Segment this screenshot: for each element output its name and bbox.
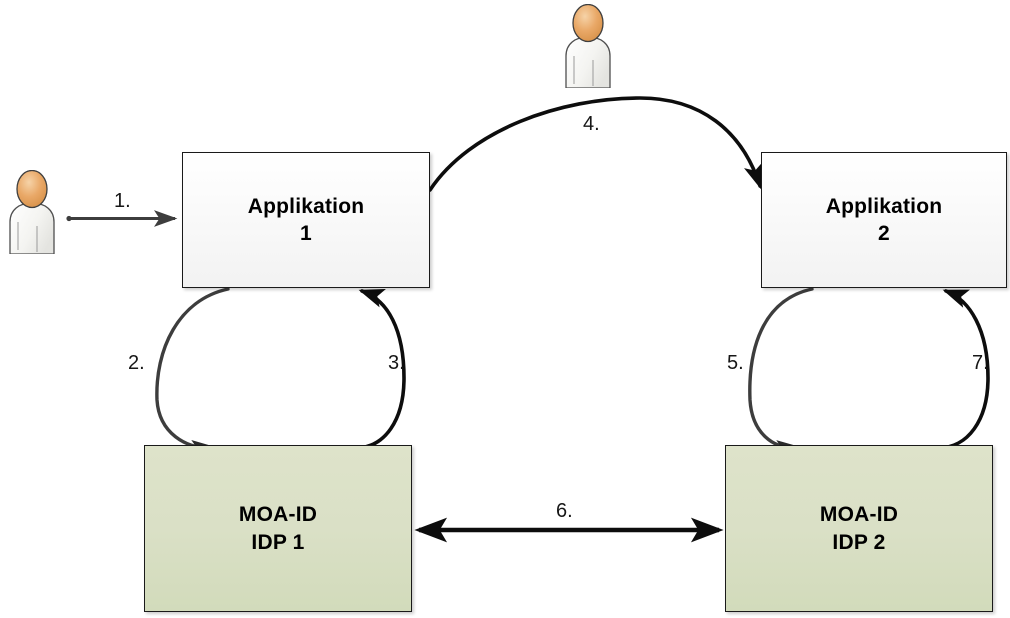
- node-moa-id-idp-1[interactable]: MOA-ID IDP 1: [144, 445, 412, 612]
- person-icon: [4, 170, 60, 254]
- node-application-2-line2: 2: [878, 220, 890, 247]
- connector-4-app1-to-app2: [430, 98, 760, 190]
- node-moa-id-idp-2-line1: MOA-ID: [820, 501, 898, 528]
- step-label-1: 1.: [114, 190, 131, 213]
- step-label-3: 3.: [388, 352, 405, 375]
- step-label-6: 6.: [556, 500, 573, 523]
- connector-2-app1-to-idp1: [157, 289, 228, 448]
- node-moa-id-idp-2[interactable]: MOA-ID IDP 2: [725, 445, 993, 612]
- node-moa-id-idp-1-line2: IDP 1: [251, 529, 304, 556]
- node-moa-id-idp-2-line2: IDP 2: [832, 529, 885, 556]
- connector-1-user-to-app1: [66, 216, 175, 221]
- step-label-5: 5.: [727, 352, 744, 375]
- node-application-2[interactable]: Applikation 2: [761, 152, 1007, 288]
- diagram-canvas: Applikation 1 Applikation 2 MOA-ID IDP 1…: [0, 0, 1010, 618]
- step-label-7: 7.: [972, 352, 989, 375]
- node-application-1[interactable]: Applikation 1: [182, 152, 430, 288]
- person-icon: [560, 4, 616, 88]
- node-moa-id-idp-1-line1: MOA-ID: [239, 501, 317, 528]
- node-application-1-line2: 1: [300, 220, 312, 247]
- node-application-1-line1: Applikation: [248, 193, 365, 220]
- connector-5-app2-to-idp2: [750, 289, 812, 448]
- step-label-2: 2.: [128, 352, 145, 375]
- step-label-4: 4.: [583, 113, 600, 136]
- user-actor-left: [4, 170, 60, 254]
- node-application-2-line1: Applikation: [826, 193, 943, 220]
- user-actor-top: [560, 4, 616, 88]
